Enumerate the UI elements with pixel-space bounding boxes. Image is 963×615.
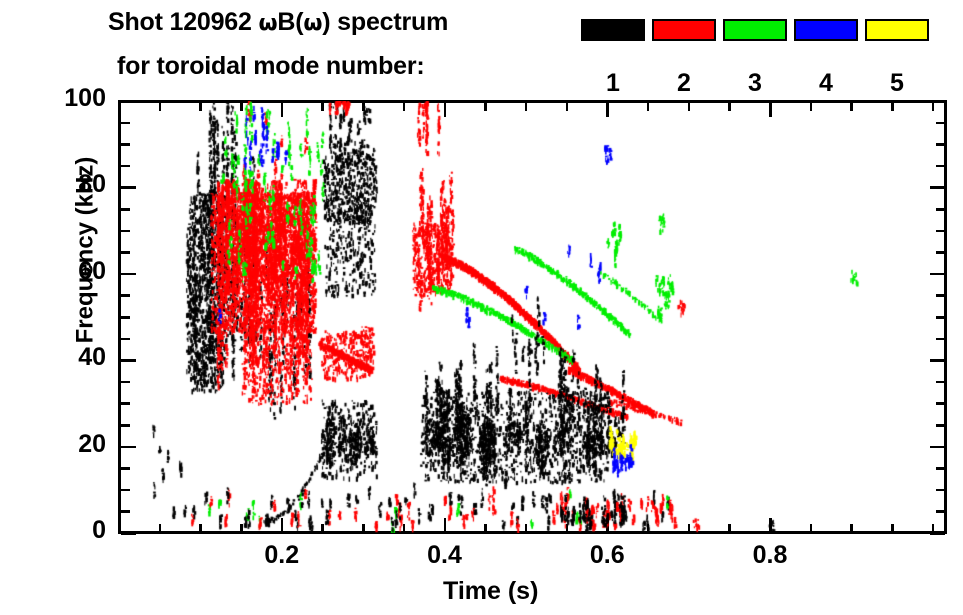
figure-title-line2: for toroidal mode number: [117,52,425,81]
title-b-text: B( [277,8,303,36]
x-tick-label-0.6: 0.6 [567,541,647,570]
y-tick-label-0: 0 [46,516,106,545]
legend-label-4: 4 [794,69,858,98]
y-tick-label-40: 40 [46,343,106,372]
legend-label-1: 1 [581,69,645,98]
spectrogram-data-canvas [119,101,945,533]
title-spectrum-text: ) spectrum [322,8,448,36]
legend-swatch-1 [581,19,645,41]
legend-label-2: 2 [652,69,716,98]
legend-label-5: 5 [865,69,929,98]
title-shot-text: Shot 120962 [108,8,258,36]
spectrogram-figure: Shot 120962 ωB(ω) spectrum for toroidal … [0,0,963,615]
figure-title-line1: Shot 120962 ωB(ω) spectrum [108,8,448,37]
y-tick-label-20: 20 [46,430,106,459]
y-axis-title: Frequency (kHz) [71,157,99,344]
x-axis-title: Time (s) [443,577,538,606]
legend-swatch-4 [794,19,858,41]
omega-symbol-1: ω [258,11,277,36]
legend-swatch-5 [865,19,929,41]
x-tick-label-0.8: 0.8 [730,541,810,570]
omega-symbol-2: ω [303,11,322,36]
legend-swatch-3 [723,19,787,41]
y-tick-label-100: 100 [46,84,106,113]
x-tick-label-0.4: 0.4 [405,541,485,570]
legend-label-3: 3 [723,69,787,98]
legend-swatch-2 [652,19,716,41]
x-tick-label-0.2: 0.2 [242,541,322,570]
